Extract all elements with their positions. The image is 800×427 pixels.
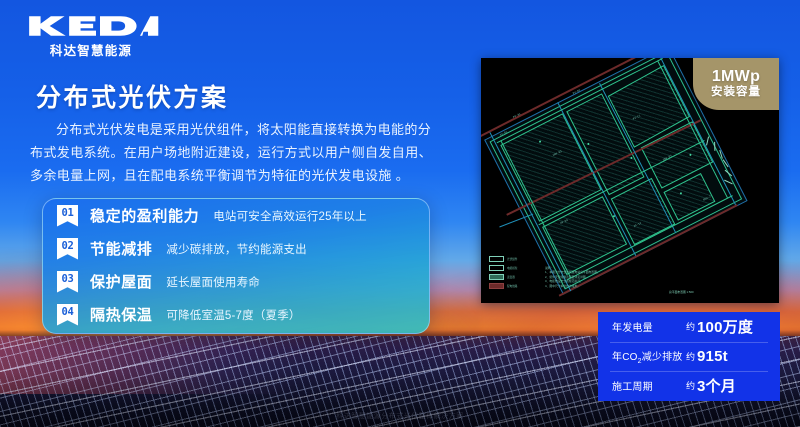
- stat-value: 915t: [697, 348, 728, 365]
- feature-desc: 延长屋面使用寿命: [166, 274, 260, 290]
- capacity-label: 安装容量: [711, 85, 761, 100]
- stat-label: 施工周期: [612, 378, 686, 393]
- brand-logo: 科达智慧能源: [28, 14, 158, 59]
- brand-logo-cn: 科达智慧能源: [28, 40, 154, 59]
- feature-number: 04: [57, 306, 78, 318]
- stats-panel: 年发电量 约 100万度 年CO2减少排放 约 915t 施工周期 约 3个月: [598, 312, 780, 401]
- feature-title: 节能减排: [90, 238, 152, 259]
- feature-desc: 电站可安全高效运行25年以上: [213, 208, 367, 224]
- stat-row-co2-reduction: 年CO2减少排放 约 915t: [598, 342, 780, 372]
- cad-notes: 说明： 1、本图为分布式光伏发电站总平面布置图。 2、组件安装倾角及间距详见详图…: [545, 266, 600, 288]
- feature-item-01[interactable]: 01 稳定的盈利能力 电站可安全高效运行25年以上: [43, 199, 429, 232]
- feature-item-04[interactable]: 04 隔热保温 可降低室温5-7度（夏季）: [43, 298, 429, 331]
- stat-label: 年CO2减少排放: [612, 348, 686, 365]
- stat-label: 年发电量: [612, 319, 686, 334]
- feature-title: 稳定的盈利能力: [90, 205, 199, 226]
- feature-number: 01: [57, 207, 78, 219]
- cad-site-plan-image: PV-A1 JX-01 PV-B2 INV-03 PV-C1 PV-D4 INV…: [481, 58, 779, 303]
- intro-paragraph: 分布式光伏发电是采用光伏组件，将太阳能直接转换为电能的分布式发电系统。在用户场地…: [30, 118, 442, 187]
- stat-approx: 约: [686, 320, 695, 333]
- feature-number: 02: [57, 240, 78, 252]
- capacity-badge: 1MWp 安装容量: [693, 58, 779, 110]
- feature-title: 保护屋面: [90, 271, 152, 292]
- page-title: 分布式光伏方案: [36, 78, 229, 114]
- capacity-value: 1MWp: [712, 68, 760, 85]
- slide-root: 科达智慧能源 分布式光伏方案 分布式光伏发电是采用光伏组件，将太阳能直接转换为电…: [0, 0, 800, 427]
- feature-badge-icon: 01: [57, 205, 78, 227]
- cad-legend-item: 电缆桥架: [489, 265, 535, 271]
- feature-badge-icon: 02: [57, 238, 78, 260]
- cad-legend: 光伏组件 电缆桥架 逆变器 配电线路: [489, 256, 535, 292]
- cad-legend-item: 逆变器: [489, 274, 535, 280]
- stat-value: 3个月: [697, 375, 736, 396]
- feature-desc: 可降低室温5-7度（夏季）: [166, 307, 300, 323]
- feature-badge-icon: 03: [57, 271, 78, 293]
- cad-scale-label: 总平面布置图 1:500: [669, 290, 694, 294]
- feature-badge-icon: 04: [57, 304, 78, 326]
- feature-title: 隔热保温: [90, 304, 152, 325]
- feature-item-03[interactable]: 03 保护屋面 延长屋面使用寿命: [43, 265, 429, 298]
- feature-number: 03: [57, 273, 78, 285]
- stat-row-construction-period: 施工周期 约 3个月: [598, 371, 780, 401]
- keda-wordmark-icon: [28, 14, 159, 38]
- stat-approx: 约: [686, 379, 695, 392]
- cad-legend-item: 光伏组件: [489, 256, 535, 262]
- stat-row-annual-generation: 年发电量 约 100万度: [598, 312, 780, 342]
- stat-value: 100万度: [697, 316, 753, 337]
- cad-legend-item: 配电线路: [489, 283, 535, 289]
- feature-panel: 01 稳定的盈利能力 电站可安全高效运行25年以上 02 节能减排 减少碳排放，…: [42, 198, 430, 334]
- stat-approx: 约: [686, 350, 695, 363]
- footer-watermark: 科达智慧能源分布式光伏整体解决方案: [0, 411, 800, 421]
- feature-item-02[interactable]: 02 节能减排 减少碳排放，节约能源支出: [43, 232, 429, 265]
- feature-desc: 减少碳排放，节约能源支出: [166, 241, 306, 257]
